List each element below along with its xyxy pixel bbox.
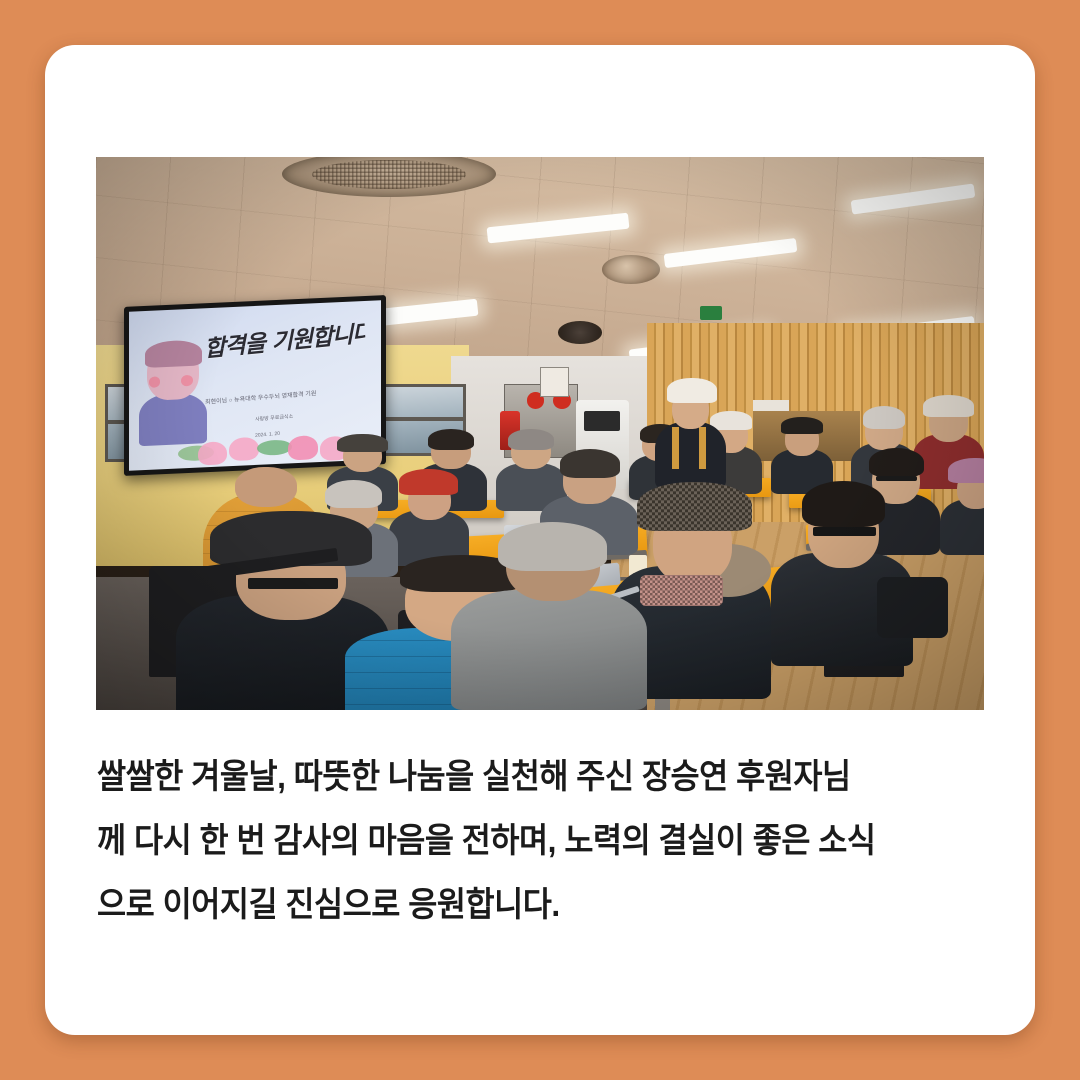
community-meal-hall-photo: 합격을 기원합니다 최현이님 ○ 뉴욕대학 우수두뇌 영재합격 기원 사랑방 무… <box>96 157 984 710</box>
apron-strap-right <box>699 427 705 469</box>
person-server-apron <box>655 378 726 489</box>
backpack-floor <box>877 577 948 638</box>
person-flat-cap <box>637 482 752 531</box>
caption-line-1: 쌀쌀한 겨울날, 따뜻한 나눔을 실천해 주신 장승연 후원자님 <box>97 745 934 809</box>
person-hair <box>863 406 906 429</box>
lotus-petal-3 <box>289 435 318 460</box>
person-head <box>235 467 297 507</box>
person-cap <box>781 417 823 434</box>
content-card: 합격을 기원합니다 최현이님 ○ 뉴욕대학 우수두뇌 영재합격 기원 사랑방 무… <box>45 45 1035 1035</box>
person-hair-grey <box>498 522 607 571</box>
ceiling-vent-round-1 <box>602 255 660 284</box>
poster-canvas: 합격을 기원합니다 최현이님 ○ 뉴욕대학 우수두뇌 영재합격 기원 사랑방 무… <box>0 0 1080 1080</box>
person-hat-pink <box>948 458 984 484</box>
apron-strap-left <box>672 427 678 469</box>
lotus-petal-2 <box>230 436 259 461</box>
banner-headline: 합격을 기원합니다 <box>204 322 368 391</box>
banner-credit-1: 사랑방 무료급식소 <box>255 407 361 423</box>
person-hair <box>428 429 473 450</box>
person-cap <box>923 395 974 418</box>
person-hair <box>325 480 382 508</box>
person-hair <box>869 448 924 477</box>
person-mid-pink-hat <box>940 456 984 556</box>
caption-line-2: 께 다시 한 번 감사의 마음을 전하며, 노력의 결실이 좋은 소식 <box>97 809 934 873</box>
exit-sign <box>700 306 722 320</box>
person-hair <box>802 481 884 526</box>
purifier-panel <box>584 411 620 430</box>
person-hair <box>560 449 621 478</box>
illustration-hair <box>145 339 202 367</box>
ceiling-speaker <box>558 321 602 344</box>
person-body-grey <box>451 590 646 710</box>
illustration-person <box>139 343 207 444</box>
head-cover <box>667 378 717 402</box>
caption-block: 쌀쌀한 겨울날, 따뜻한 나눔을 실천해 주신 장승연 후원자님 께 다시 한 … <box>97 745 934 937</box>
eyeglasses <box>813 527 876 536</box>
person-cap-red <box>399 469 458 495</box>
eyeglasses <box>248 578 338 589</box>
lotus-petal-1 <box>198 441 227 466</box>
wall-sign-restroom <box>540 367 569 397</box>
caption-line-3: 으로 이어지길 진심으로 응원합니다. <box>97 873 934 937</box>
person-cap <box>337 434 388 453</box>
person-grey-sweater-back <box>451 522 646 710</box>
checkered-scarf <box>640 575 723 606</box>
